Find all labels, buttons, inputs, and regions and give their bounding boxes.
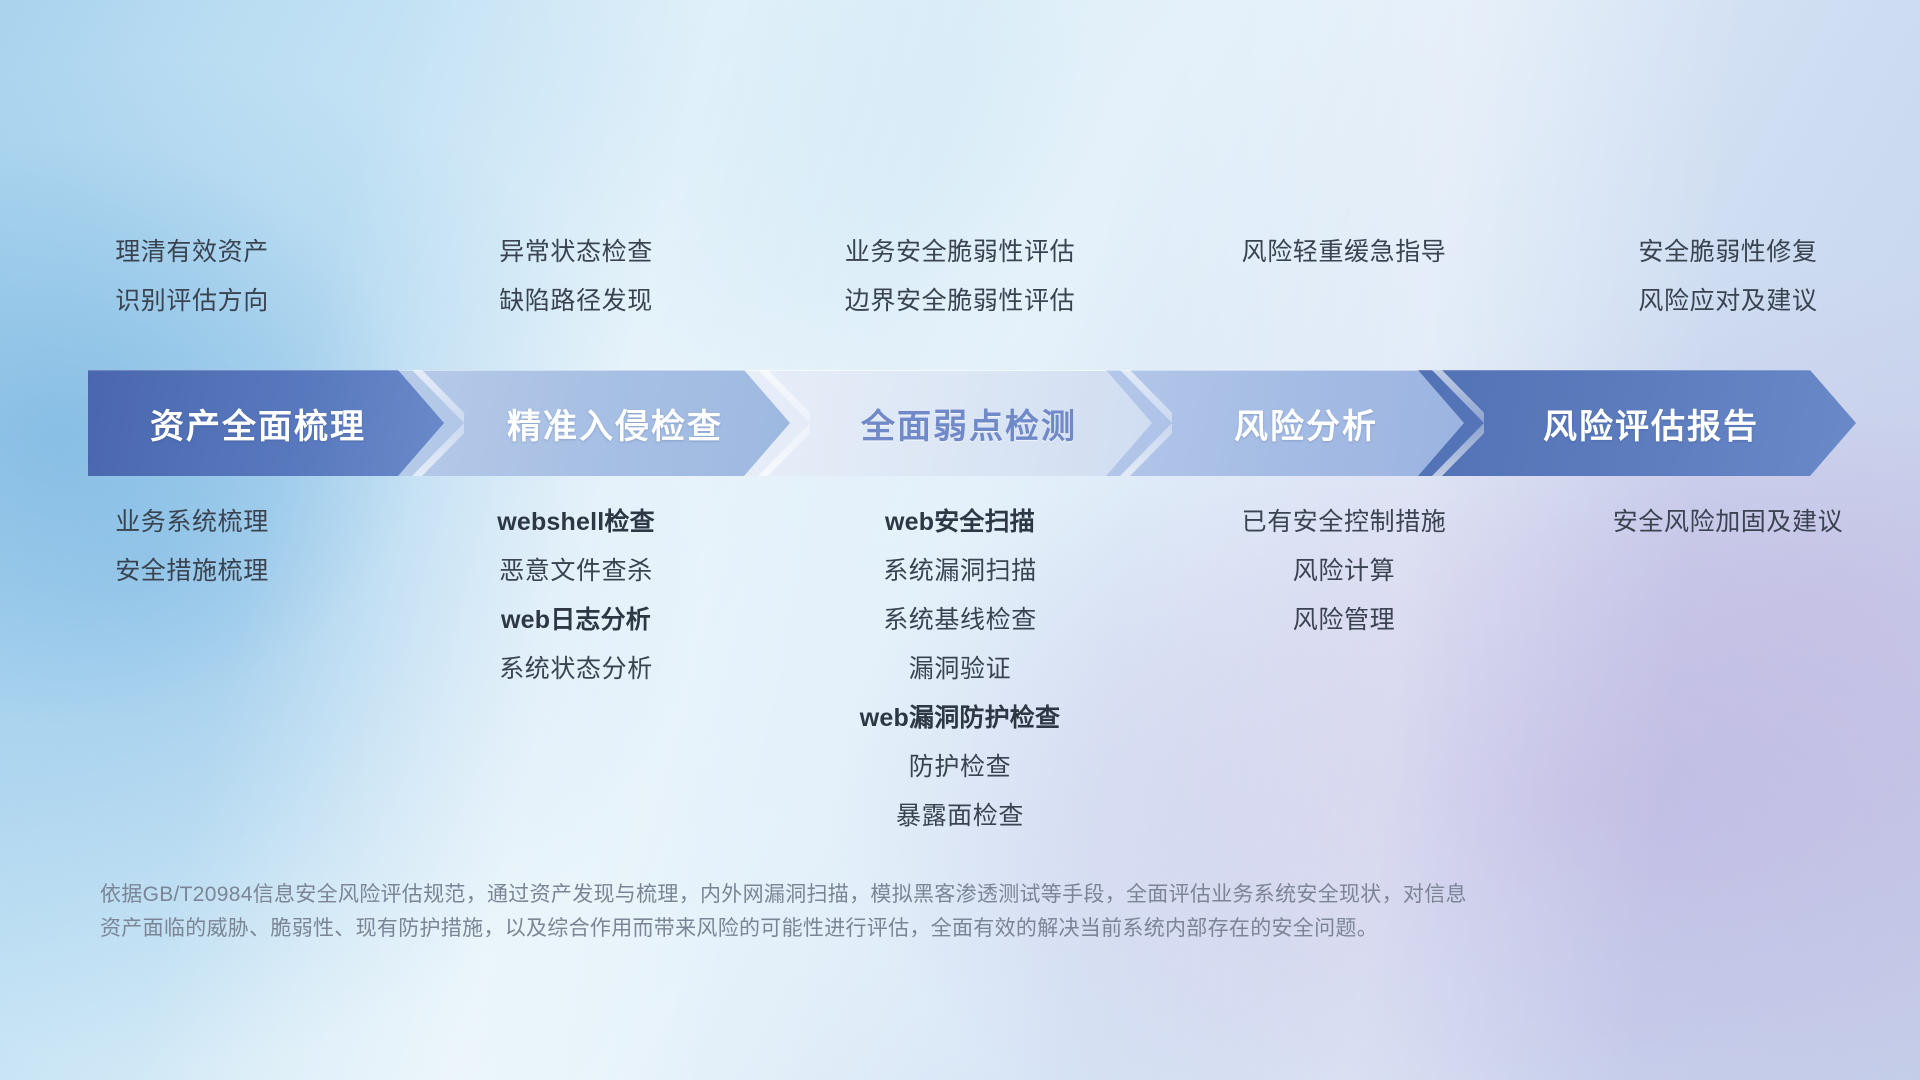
- detail-item: 恶意文件查杀: [499, 547, 653, 596]
- detail-column-intrusion-check: webshell检查 恶意文件查杀 web日志分析 系统状态分析: [384, 498, 768, 841]
- top-notes-intrusion-check: 异常状态检查 缺陷路径发现: [384, 228, 768, 338]
- detail-item: 防护检查: [909, 743, 1011, 792]
- top-note: 安全脆弱性修复: [1638, 228, 1817, 277]
- footer-description: 依据GB/T20984信息安全风险评估规范，通过资产发现与梳理，内外网漏洞扫描，…: [100, 878, 1680, 946]
- stage-title: 全面弱点检测: [744, 399, 1166, 448]
- top-note: 异常状态检查: [499, 228, 653, 277]
- stage-chevron-weakness-detection[interactable]: 全面弱点检测: [744, 370, 1166, 476]
- top-note: 理清有效资产: [115, 228, 269, 277]
- top-notes-assessment-report: 安全脆弱性修复 风险应对及建议: [1536, 228, 1920, 338]
- detail-item: 业务系统梳理: [115, 498, 269, 547]
- top-note: 识别评估方向: [115, 277, 269, 326]
- detail-item: 系统基线检查: [883, 596, 1037, 645]
- detail-item: webshell检查: [497, 498, 655, 547]
- detail-item: 风险计算: [1293, 547, 1395, 596]
- detail-item: 漏洞验证: [909, 645, 1011, 694]
- detail-item: web日志分析: [501, 596, 651, 645]
- stage-chevron-assessment-report[interactable]: 风险评估报告: [1418, 370, 1856, 476]
- detail-column-risk-analysis: 已有安全控制措施 风险计算 风险管理: [1152, 498, 1536, 841]
- detail-column-weakness-detection: web安全扫描 系统漏洞扫描 系统基线检查 漏洞验证 web漏洞防护检查 防护检…: [768, 498, 1152, 841]
- detail-item: 系统漏洞扫描: [883, 547, 1037, 596]
- stage-title: 风险评估报告: [1418, 399, 1856, 448]
- top-note: 风险轻重缓急指导: [1242, 228, 1447, 277]
- stage-detail-columns: 业务系统梳理 安全措施梳理 webshell检查 恶意文件查杀 web日志分析 …: [0, 498, 1920, 841]
- detail-item: web漏洞防护检查: [860, 694, 1060, 743]
- detail-column-assessment-report: 安全风险加固及建议: [1536, 498, 1920, 841]
- top-note: 边界安全脆弱性评估: [845, 277, 1075, 326]
- detail-item: web安全扫描: [885, 498, 1035, 547]
- detail-item: 安全措施梳理: [115, 547, 269, 596]
- detail-item: 风险管理: [1293, 596, 1395, 645]
- top-notes-risk-analysis: 风险轻重缓急指导: [1152, 228, 1536, 338]
- top-note: 缺陷路径发现: [499, 277, 653, 326]
- detail-item: 已有安全控制措施: [1242, 498, 1447, 547]
- top-notes-asset-inventory: 理清有效资产 识别评估方向: [0, 228, 384, 338]
- detail-item: 暴露面检查: [896, 792, 1024, 841]
- detail-item: 系统状态分析: [499, 645, 653, 694]
- detail-item: 安全风险加固及建议: [1613, 498, 1843, 547]
- detail-column-asset-inventory: 业务系统梳理 安全措施梳理: [0, 498, 384, 841]
- top-note: 业务安全脆弱性评估: [845, 228, 1075, 277]
- process-arrow-banner: 资产全面梳理 精准入侵检查 全面弱点检测 风险分析 风险评估报告: [88, 370, 1856, 476]
- top-note: 风险应对及建议: [1638, 277, 1817, 326]
- infographic-canvas: 理清有效资产 识别评估方向 异常状态检查 缺陷路径发现 业务安全脆弱性评估 边界…: [0, 0, 1920, 1080]
- footer-line-2: 资产面临的威胁、脆弱性、现有防护措施，以及综合作用而带来风险的可能性进行评估，全…: [100, 912, 1680, 946]
- top-notes-row: 理清有效资产 识别评估方向 异常状态检查 缺陷路径发现 业务安全脆弱性评估 边界…: [0, 228, 1920, 338]
- top-notes-weakness-detection: 业务安全脆弱性评估 边界安全脆弱性评估: [768, 228, 1152, 338]
- footer-line-1: 依据GB/T20984信息安全风险评估规范，通过资产发现与梳理，内外网漏洞扫描，…: [100, 878, 1680, 912]
